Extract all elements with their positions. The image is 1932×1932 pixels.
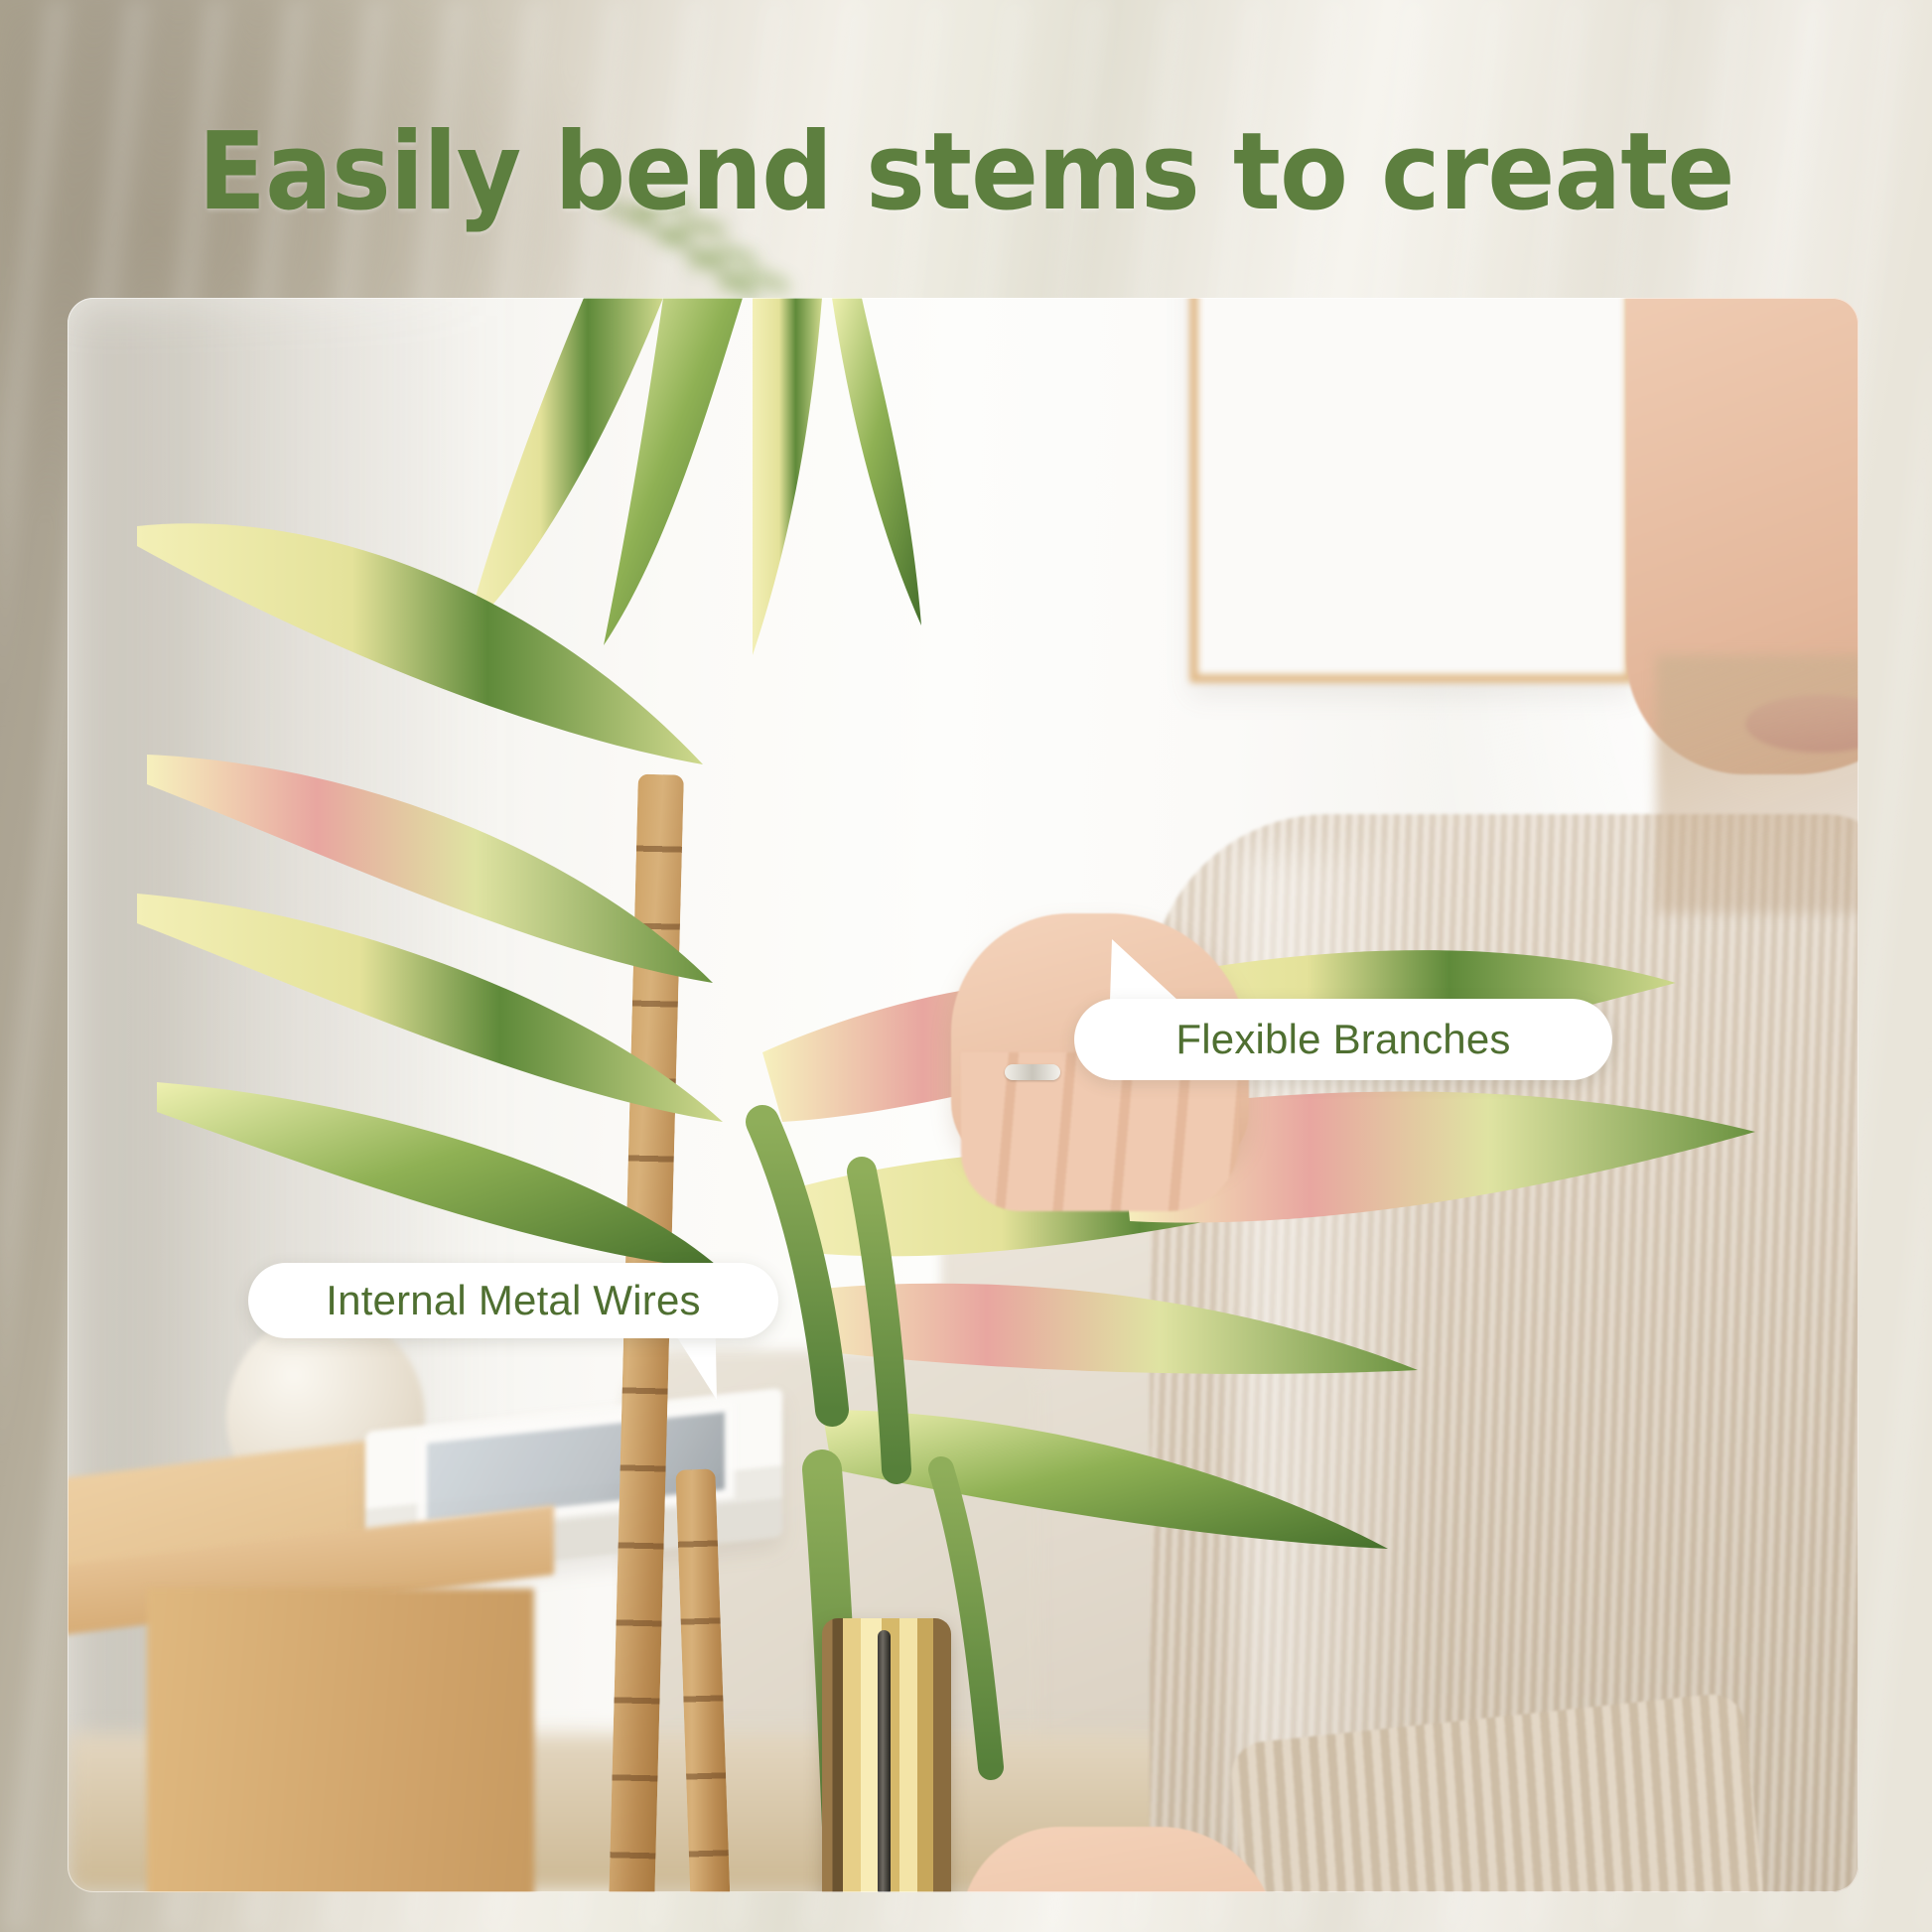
callout-flexible-branches-label: Flexible Branches bbox=[1175, 1016, 1510, 1063]
ring-upper bbox=[1005, 1064, 1060, 1080]
framed-picture bbox=[1189, 298, 1634, 683]
side-table-leg bbox=[147, 1588, 534, 1892]
internal-metal-wire bbox=[878, 1630, 891, 1892]
callout-internal-metal-wires-label: Internal Metal Wires bbox=[326, 1277, 700, 1324]
headline-line-1: Easily bend stems to create bbox=[68, 127, 1864, 218]
product-photo bbox=[68, 298, 1859, 1892]
callout-internal-metal-wires[interactable]: Internal Metal Wires bbox=[248, 1263, 778, 1338]
hair-strands bbox=[1656, 655, 1859, 913]
callout-flexible-branches[interactable]: Flexible Branches bbox=[1074, 999, 1612, 1080]
infographic-canvas: Easily bend stems to create your preferr… bbox=[0, 0, 1932, 1932]
